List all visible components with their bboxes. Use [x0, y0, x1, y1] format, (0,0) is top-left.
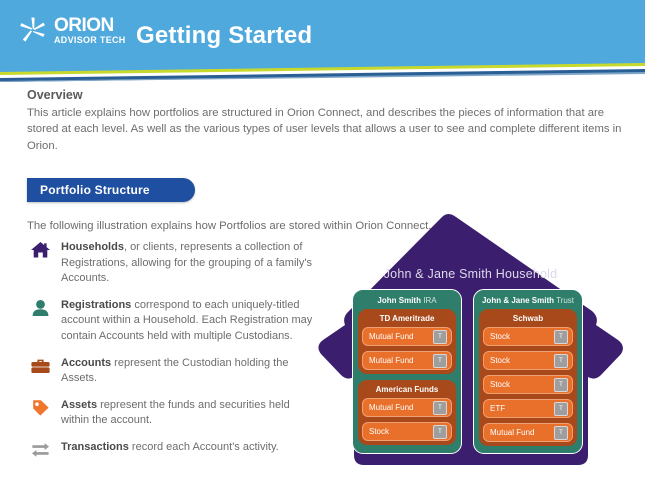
banner-label: Portfolio Structure	[40, 183, 150, 197]
list-item-text: Transactions record each Account's activ…	[61, 440, 279, 464]
page-title: Getting Started	[136, 22, 312, 50]
concept-list: Households, or clients, represents a col…	[30, 240, 320, 475]
transaction-badge: T	[554, 426, 568, 440]
transaction-badge: T	[554, 330, 568, 344]
asset-row: ETF T	[483, 399, 573, 418]
custodian-name: American Funds	[362, 385, 452, 394]
overview-paragraph: This article explains how portfolios are…	[27, 105, 625, 154]
list-item: Registrations correspond to each uniquel…	[30, 298, 320, 345]
registration-type: IRA	[423, 296, 436, 305]
transaction-badge: T	[433, 330, 447, 344]
list-item-text: Assets represent the funds and securitie…	[61, 398, 320, 429]
registration-card: John Smith IRA TD Ameritrade Mutual Fund…	[352, 289, 462, 454]
transaction-badge: T	[433, 425, 447, 439]
orion-starburst-icon	[18, 15, 48, 45]
list-item-term: Assets	[61, 399, 97, 411]
asset-row: Mutual Fund T	[362, 327, 452, 346]
registrations-container: John Smith IRA TD Ameritrade Mutual Fund…	[352, 289, 594, 454]
asset-row: Stock T	[362, 422, 452, 441]
page-header: ORION ADVISOR TECH Getting Started	[0, 0, 645, 60]
transaction-badge: T	[554, 354, 568, 368]
asset-label: Stock	[490, 332, 510, 341]
portfolio-structure-banner: Portfolio Structure	[27, 178, 195, 202]
custodian-card: Schwab Stock T Stock T Stock T ETF T	[479, 309, 577, 446]
asset-label: Stock	[369, 427, 389, 436]
logo-wordmark: ORION	[54, 16, 126, 35]
asset-label: Stock	[490, 356, 510, 365]
list-item-term: Households	[61, 241, 124, 253]
portfolio-structure-diagram: John & Jane Smith Household John Smith I…	[296, 207, 645, 479]
transaction-badge: T	[554, 378, 568, 392]
registration-type: Trust	[556, 296, 574, 305]
registration-title: John Smith IRA	[358, 296, 456, 305]
house-icon	[30, 240, 51, 287]
list-item-term: Accounts	[61, 357, 111, 369]
custodian-name: TD Ameritrade	[362, 314, 452, 323]
list-item-term: Registrations	[61, 299, 131, 311]
list-item-text: Households, or clients, represents a col…	[61, 240, 320, 287]
asset-row: Mutual Fund T	[362, 351, 452, 370]
transaction-badge: T	[433, 354, 447, 368]
registration-name: John Smith	[377, 296, 421, 305]
header-decorative-stripes	[0, 52, 645, 82]
transactions-icon	[30, 440, 51, 464]
custodian-card: TD Ameritrade Mutual Fund T Mutual Fund …	[358, 309, 456, 374]
registration-name: John & Jane Smith	[482, 296, 554, 305]
list-item-text: Registrations correspond to each uniquel…	[61, 298, 320, 345]
registration-card: John & Jane Smith Trust Schwab Stock T S…	[473, 289, 583, 454]
asset-label: Stock	[490, 380, 510, 389]
person-icon	[30, 298, 51, 345]
asset-label: Mutual Fund	[369, 403, 413, 412]
logo-tagline: ADVISOR TECH	[54, 36, 126, 45]
list-item: Transactions record each Account's activ…	[30, 440, 320, 464]
list-item-desc: record each Account's activity.	[129, 441, 279, 453]
list-item: Households, or clients, represents a col…	[30, 240, 320, 287]
tag-icon	[30, 398, 51, 429]
asset-row: Mutual Fund T	[483, 423, 573, 442]
asset-label: Mutual Fund	[369, 356, 413, 365]
asset-row: Stock T	[483, 375, 573, 394]
list-item: Assets represent the funds and securitie…	[30, 398, 320, 429]
transaction-badge: T	[433, 401, 447, 415]
asset-row: Stock T	[483, 351, 573, 370]
custodian-name: Schwab	[483, 314, 573, 323]
overview-heading: Overview	[27, 88, 645, 102]
list-item-term: Transactions	[61, 441, 129, 453]
asset-label: Mutual Fund	[369, 332, 413, 341]
list-item-text: Accounts represent the Custodian holding…	[61, 356, 320, 387]
asset-row: Mutual Fund T	[362, 398, 452, 417]
registration-title: John & Jane Smith Trust	[479, 296, 577, 305]
transaction-badge: T	[554, 402, 568, 416]
custodian-card: American Funds Mutual Fund T Stock T	[358, 380, 456, 445]
asset-row: Stock T	[483, 327, 573, 346]
briefcase-icon	[30, 356, 51, 387]
orion-logo: ORION ADVISOR TECH	[18, 15, 126, 45]
household-title: John & Jane Smith Household	[296, 267, 645, 281]
asset-label: Mutual Fund	[490, 428, 534, 437]
list-item: Accounts represent the Custodian holding…	[30, 356, 320, 387]
asset-label: ETF	[490, 404, 505, 413]
